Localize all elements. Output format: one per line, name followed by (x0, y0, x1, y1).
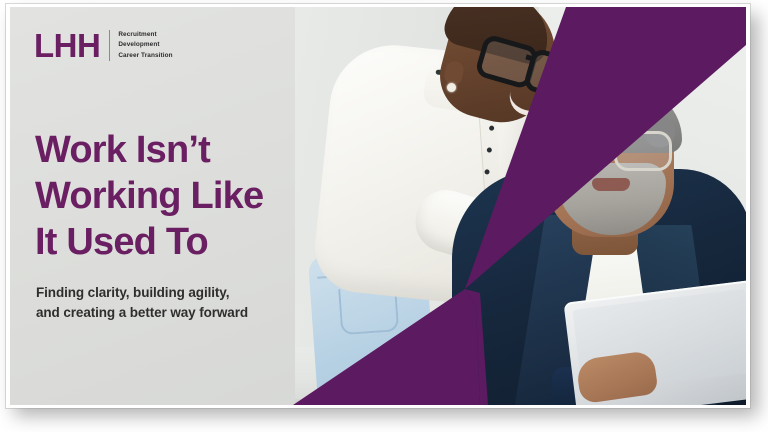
logo-tagline: Recruitment Development Career Transitio… (118, 30, 172, 61)
seated-man (452, 75, 746, 405)
slide-stage: LHH Recruitment Development Career Trans… (0, 0, 768, 432)
logo-wordmark: LHH (34, 29, 100, 62)
subtitle-line-2: and creating a better way forward (36, 303, 336, 324)
glasses-lens-left (552, 131, 610, 171)
hero-photo (295, 7, 746, 405)
page-subtitle: Finding clarity, building agility, and c… (36, 283, 336, 324)
tagline-line-2: Development (118, 40, 172, 50)
headline-line-2: Working Like (35, 174, 335, 220)
lhh-logo[interactable]: LHH Recruitment Development Career Trans… (34, 29, 173, 62)
tagline-line-3: Career Transition (118, 51, 172, 61)
slide-card-frame: LHH Recruitment Development Career Trans… (6, 4, 750, 408)
headline-line-1: Work Isn’t (35, 128, 335, 174)
man-eyeglasses (552, 131, 674, 167)
man-mouth (592, 178, 630, 191)
headline-line-3: It Used To (35, 220, 335, 266)
logo-divider (109, 30, 110, 61)
page-title: Work Isn’t Working Like It Used To (35, 128, 335, 265)
subtitle-line-1: Finding clarity, building agility, (36, 283, 336, 304)
glasses-lens-right (614, 131, 672, 171)
tagline-line-1: Recruitment (118, 30, 172, 40)
slide-canvas: LHH Recruitment Development Career Trans… (10, 7, 746, 405)
